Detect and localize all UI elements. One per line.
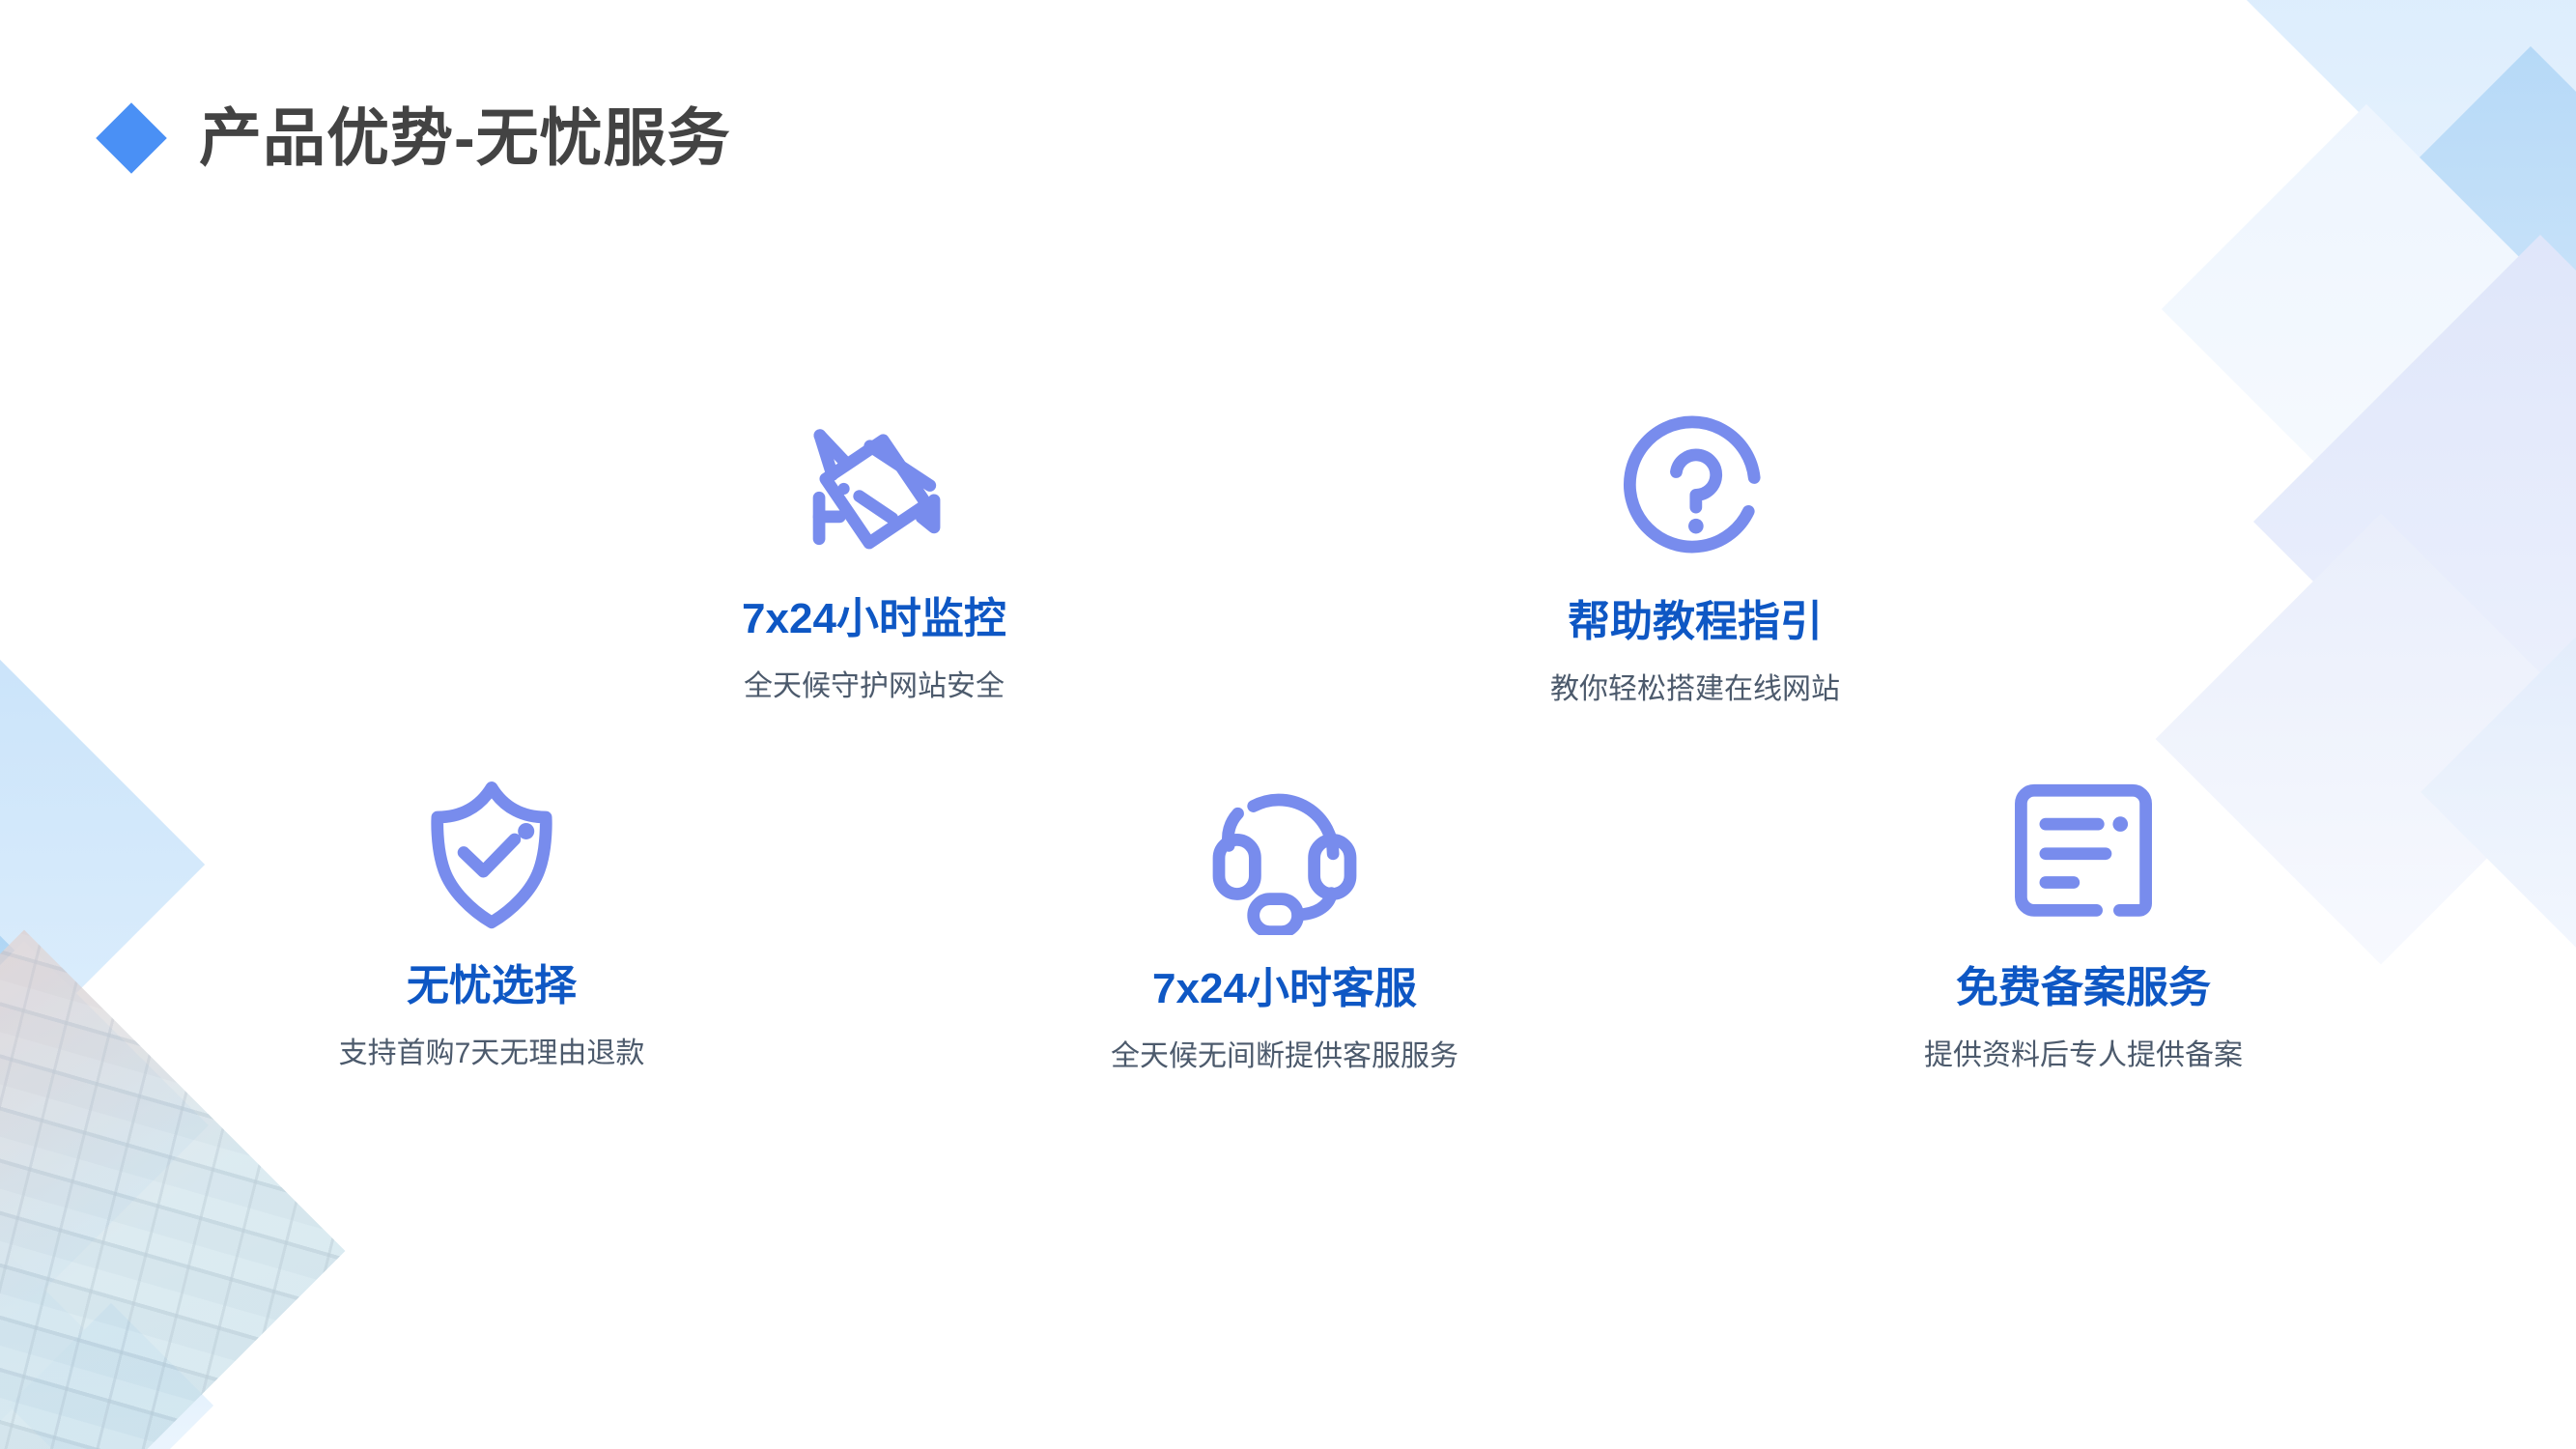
question-circle-icon — [1613, 404, 1777, 568]
decor-diamond-left-3 — [0, 941, 209, 1310]
feature-desc: 全天候守护网站安全 — [744, 669, 1005, 704]
security-camera-icon — [792, 401, 956, 565]
feature-title: 无忧选择 — [407, 963, 577, 1009]
page-title: 产品优势-无忧服务 — [199, 106, 731, 169]
slide-canvas: 产品优势-无忧服务 7x24小时监控 — [0, 0, 2576, 1449]
feature-desc: 提供资料后专人提供备案 — [1924, 1038, 2243, 1073]
feature-title: 免费备案服务 — [1956, 965, 2211, 1011]
feature-title: 7x24小时客服 — [1152, 966, 1417, 1012]
diamond-icon — [96, 102, 167, 174]
feature-desc: 支持首购7天无理由退款 — [339, 1037, 645, 1071]
decor-diamond-left-1 — [0, 660, 205, 1069]
decor-diamond-left-5 — [9, 1303, 213, 1449]
decor-diamond-left-2 — [0, 917, 117, 1190]
decor-diamond-left-4 — [0, 1197, 88, 1449]
decor-diamond-top-right-4 — [2253, 235, 2576, 809]
decor-diamond-top-right-1 — [2213, 0, 2576, 260]
feature-title: 帮助教程指引 — [1568, 599, 1823, 645]
feature-item-support[interactable]: 7x24小时客服 全天候无间断提供客服服务 — [1014, 771, 1555, 1074]
headset-icon — [1203, 771, 1367, 935]
feature-item-monitoring[interactable]: 7x24小时监控 全天候守护网站安全 — [604, 401, 1145, 704]
document-lines-icon — [2001, 770, 2166, 934]
decor-diamond-top-right-3 — [2162, 104, 2571, 514]
feature-title: 7x24小时监控 — [742, 596, 1006, 642]
feature-desc: 教你轻松搭建在线网站 — [1550, 672, 1840, 707]
feature-desc: 全天候无间断提供客服服务 — [1111, 1039, 1458, 1074]
page-header: 产品优势-无忧服务 — [106, 106, 731, 169]
decor-diamond-top-right-2 — [2326, 46, 2576, 456]
shield-check-icon — [410, 768, 574, 932]
decor-diamond-top-right-6 — [2420, 614, 2576, 970]
feature-item-worryfree[interactable]: 无忧选择 支持首购7天无理由退款 — [221, 768, 762, 1071]
feature-item-filing[interactable]: 免费备案服务 提供资料后专人提供备案 — [1813, 770, 2354, 1073]
background-decoration-layer — [0, 0, 2576, 1449]
feature-item-help[interactable]: 帮助教程指引 教你轻松搭建在线网站 — [1425, 404, 1966, 707]
